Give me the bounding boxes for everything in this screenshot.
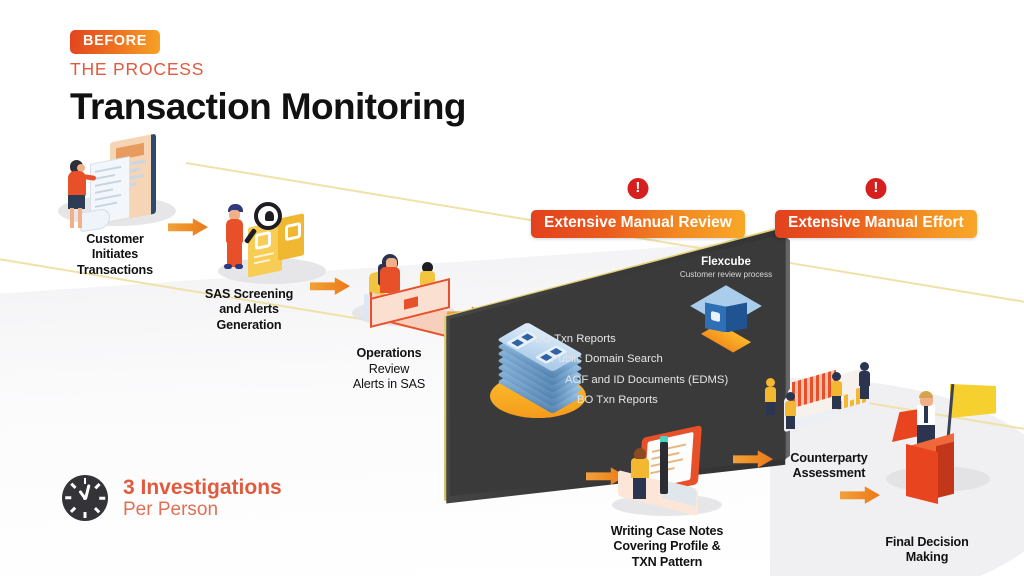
person-figure <box>766 378 775 415</box>
person-leg <box>70 208 74 228</box>
flexcube-block: Flexcube Customer review process <box>666 256 786 344</box>
page-title: Transaction Monitoring <box>70 87 466 126</box>
person-body <box>631 458 649 478</box>
step-label-writing-case-notes: Writing Case Notes Covering Profile & TX… <box>557 524 777 570</box>
panel-item: Public Domain Search <box>551 354 728 365</box>
clock-icon <box>62 475 108 521</box>
stat-line-1: 3 Investigations <box>123 476 282 500</box>
warning-label: Extensive Manual Effort <box>775 210 977 238</box>
cube-icon <box>699 286 753 344</box>
person-skirt <box>68 195 85 209</box>
person-body <box>226 219 243 243</box>
panel-item: AOF and ID Documents (EDMS) <box>565 375 728 386</box>
person-figure <box>832 372 841 409</box>
warning-manual-effort: ! Extensive Manual Effort <box>775 210 977 238</box>
folder-icon <box>278 213 304 261</box>
before-badge: BEFORE <box>70 30 160 54</box>
alert-exclamation-icon: ! <box>865 178 886 199</box>
flow-arrow-1 <box>168 218 208 244</box>
step-label-final-decision: Final Decision Making <box>837 535 1017 566</box>
podium-front <box>906 444 938 504</box>
stat-text: 3 Investigations Per Person <box>123 476 282 521</box>
warning-label: Extensive Manual Review <box>531 210 745 238</box>
pen-icon <box>660 442 668 494</box>
flow-arrow-2 <box>310 277 350 303</box>
alert-magnifier-icon <box>254 202 282 230</box>
receipt-curl <box>80 208 110 233</box>
customer-illustration <box>58 138 168 243</box>
victory-flag-icon <box>950 384 996 418</box>
header-subtitle: THE PROCESS <box>70 61 466 79</box>
person-shoe <box>235 264 243 269</box>
person-figure <box>860 362 869 399</box>
cube-right-face <box>726 302 747 332</box>
podium-side <box>936 442 954 498</box>
panel-item-list: BO Txn Reports Public Domain Search AOF … <box>535 334 728 415</box>
person-hair <box>919 391 933 398</box>
sas-screening-illustration <box>218 196 323 296</box>
panel-item: BO Txn Reports <box>577 395 728 406</box>
person-shoe <box>224 264 232 269</box>
header: BEFORE THE PROCESS Transaction Monitorin… <box>70 30 466 126</box>
person-tie <box>924 406 928 423</box>
person-legs <box>633 477 646 499</box>
stat-line-2: Per Person <box>123 499 282 520</box>
flexcube-title: Flexcube <box>666 256 786 269</box>
flexcube-subtitle: Customer review process <box>666 270 786 280</box>
warning-manual-review: ! Extensive Manual Review <box>531 210 745 238</box>
person-leg <box>78 208 82 228</box>
flow-arrow-6 <box>840 486 880 512</box>
person-head <box>634 448 646 459</box>
infographic-canvas: BEFORE THE PROCESS Transaction Monitorin… <box>0 0 1024 576</box>
bell-icon <box>265 211 274 221</box>
alert-exclamation-icon: ! <box>627 178 648 199</box>
counterparty-illustration <box>766 362 896 442</box>
final-decision-illustration <box>890 378 1010 518</box>
folder-cutout <box>285 222 301 241</box>
investigations-stat: 3 Investigations Per Person <box>62 475 282 521</box>
case-notes-illustration <box>612 432 722 512</box>
operations-title: Operations <box>357 346 422 360</box>
folder-cutout <box>255 231 271 250</box>
person-figure <box>786 392 795 429</box>
person-body <box>380 267 400 293</box>
